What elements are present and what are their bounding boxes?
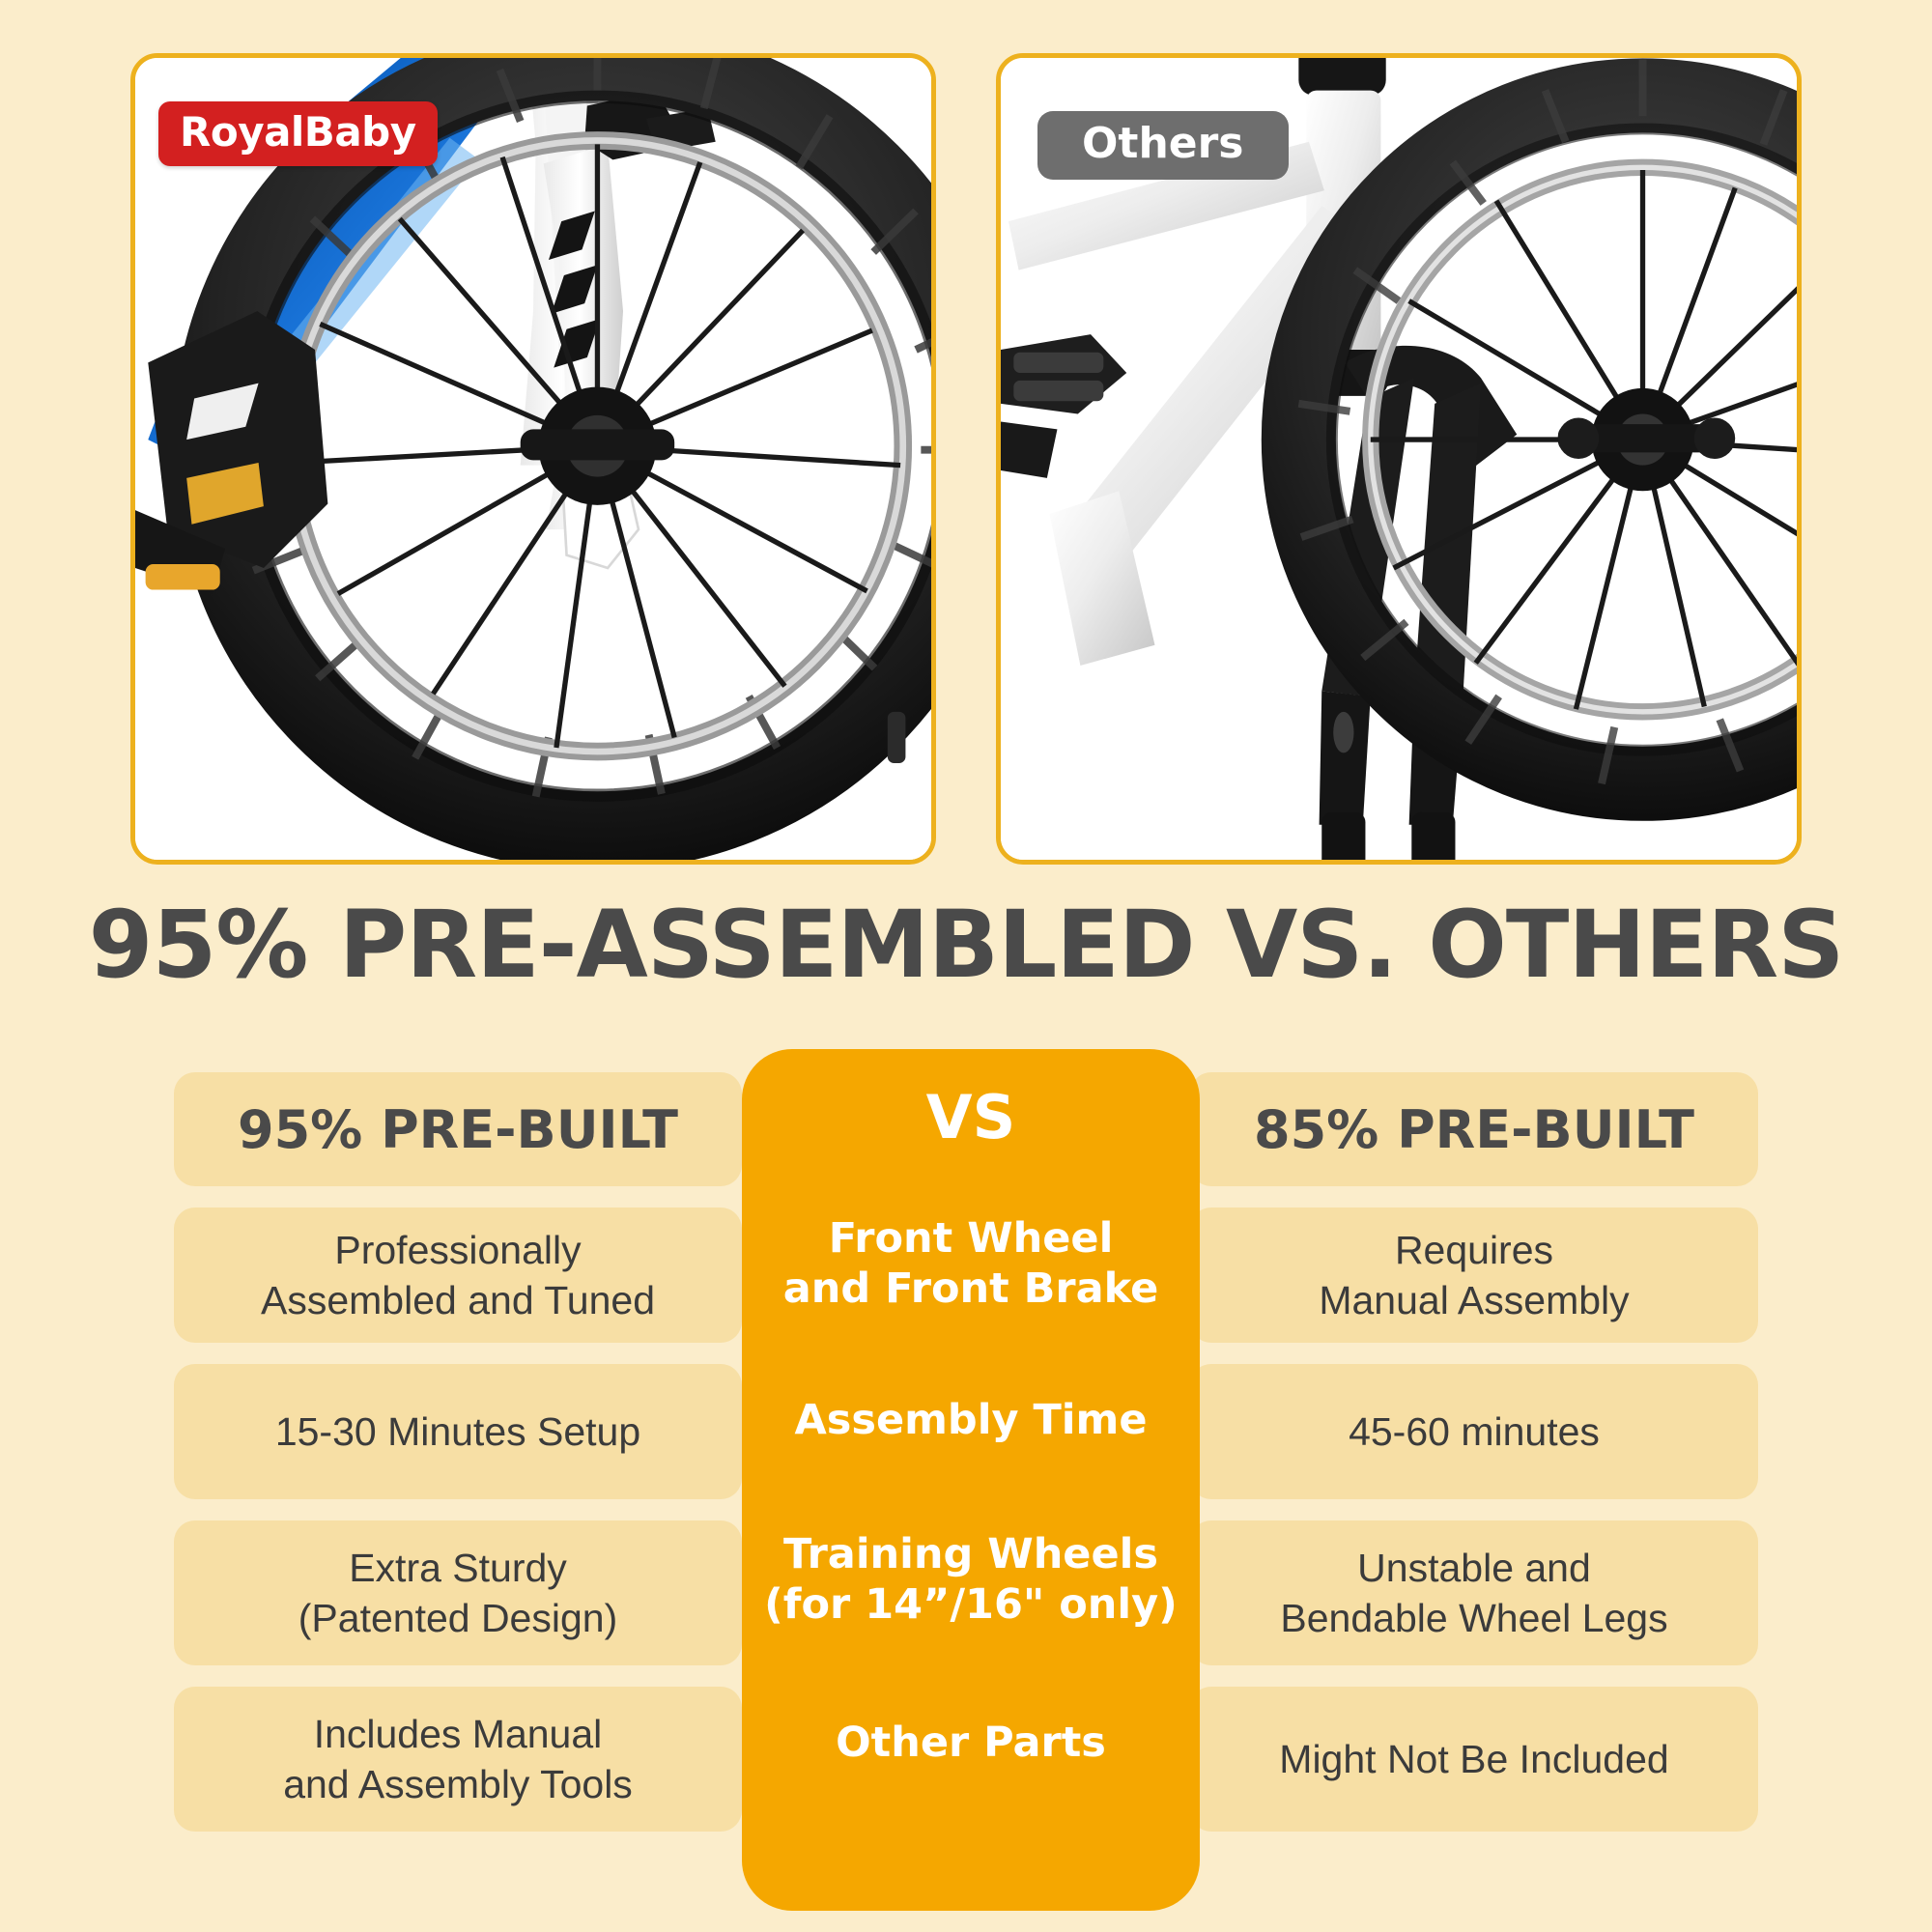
- others-badge: Others: [1037, 111, 1289, 180]
- others-badge-text: Others: [1082, 123, 1244, 165]
- row-4-cell-right: Might Not Be Included: [1190, 1687, 1758, 1832]
- page-title: 95% PRE-ASSEMBLED VS. OTHERS: [0, 898, 1932, 991]
- row-2-cell-right: 45-60 minutes: [1190, 1364, 1758, 1499]
- row-2-cell-left: 15-30 Minutes Setup: [174, 1364, 742, 1499]
- row-4-cell-left: Includes Manualand Assembly Tools: [174, 1687, 742, 1832]
- row-1-cell-right: RequiresManual Assembly: [1190, 1207, 1758, 1343]
- vs-label: VS: [742, 1049, 1200, 1186]
- header-cell-left: 95% PRE-BUILT: [174, 1072, 742, 1186]
- royalbaby-logo-badge: RoyalBaby: [158, 101, 438, 166]
- photo-panel-others: Others: [996, 53, 1802, 865]
- row-1-cell-left: ProfessionallyAssembled and Tuned: [174, 1207, 742, 1343]
- vs-row-2-label: Assembly Time: [742, 1343, 1200, 1499]
- row-3-cell-right: Unstable andBendable Wheel Legs: [1190, 1520, 1758, 1665]
- vs-row-4-label: Other Parts: [742, 1662, 1200, 1826]
- header-cell-right: 85% PRE-BUILT: [1190, 1072, 1758, 1186]
- photo-panel-group: RoyalBaby: [130, 53, 1802, 865]
- infographic-page: RoyalBaby: [0, 0, 1932, 1932]
- royalbaby-logo-text: RoyalBaby: [180, 112, 416, 153]
- vs-center-column: VS Front Wheeland Front Brake Assembly T…: [742, 1049, 1200, 1911]
- vs-row-3-label: Training Wheels(for 14”/16" only): [742, 1499, 1200, 1662]
- vs-row-1-label: Front Wheeland Front Brake: [742, 1186, 1200, 1343]
- royalbaby-bicycle-image: [135, 58, 931, 860]
- photo-panel-royalbaby: RoyalBaby: [130, 53, 936, 865]
- row-3-cell-left: Extra Sturdy(Patented Design): [174, 1520, 742, 1665]
